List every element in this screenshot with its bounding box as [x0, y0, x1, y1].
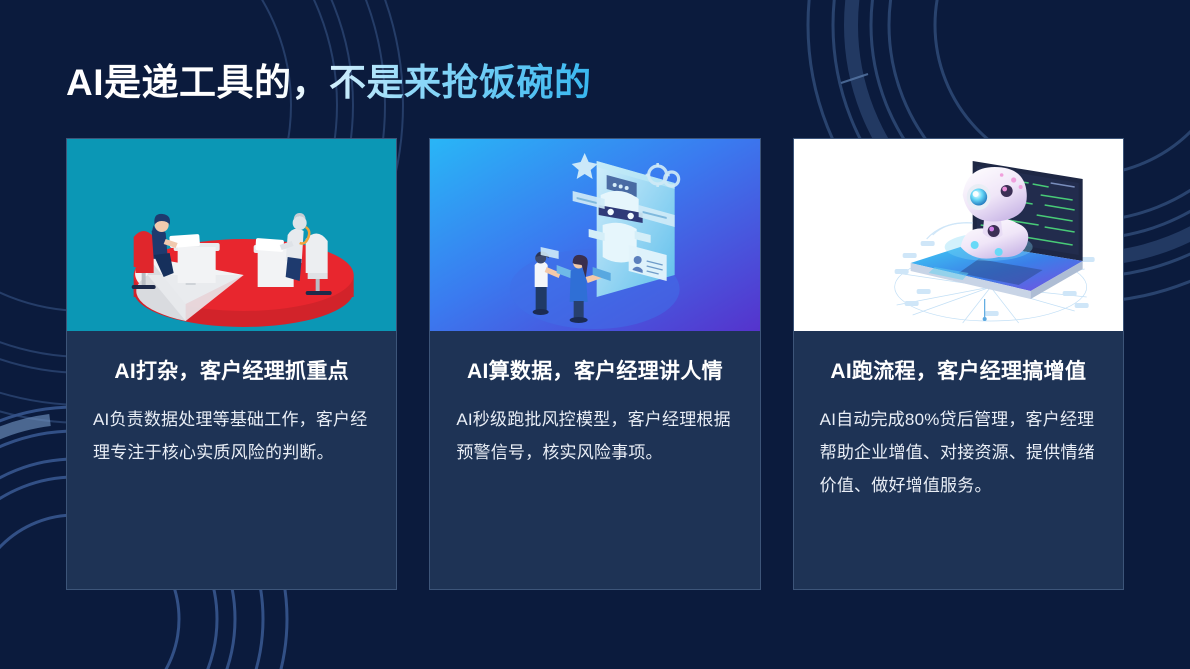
card-ai-data-crunching[interactable]: AI算数据，客户经理讲人情 AI秒级跑批风控模型，客户经理根据预警信号，核实风险…	[429, 138, 760, 590]
card-heading: AI算数据，客户经理讲人情	[456, 355, 733, 385]
card-list: AI打杂，客户经理抓重点 AI负责数据处理等基础工作，客户经理专注于核心实质风险…	[66, 138, 1124, 590]
card-description: AI负责数据处理等基础工作，客户经理专注于核心实质风险的判断。	[93, 403, 370, 469]
card-media-1	[67, 139, 396, 331]
card-heading: AI跑流程，客户经理搞增值	[820, 355, 1097, 385]
card-media-3	[794, 139, 1123, 331]
card-heading: AI打杂，客户经理抓重点	[93, 355, 370, 385]
illustration-3d-robot-emerging-from-laptop-with-code-icon	[794, 139, 1123, 331]
card-description: AI秒级跑批风控模型，客户经理根据预警信号，核实风险事项。	[456, 403, 733, 469]
card-ai-process-automation[interactable]: AI跑流程，客户经理搞增值 AI自动完成80%贷后管理，客户经理帮助企业增值、对…	[793, 138, 1124, 590]
card-body-1: AI打杂，客户经理抓重点 AI负责数据处理等基础工作，客户经理专注于核心实质风险…	[67, 331, 396, 469]
illustration-woman-and-robot-at-desks-on-pie-chart-icon	[67, 139, 396, 331]
card-body-3: AI跑流程，客户经理搞增值 AI自动完成80%贷后管理，客户经理帮助企业增值、对…	[794, 331, 1123, 502]
card-description: AI自动完成80%贷后管理，客户经理帮助企业增值、对接资源、提供情绪价值、做好增…	[820, 403, 1097, 502]
card-ai-grunt-work[interactable]: AI打杂，客户经理抓重点 AI负责数据处理等基础工作，客户经理专注于核心实质风险…	[66, 138, 397, 590]
card-body-2: AI算数据，客户经理讲人情 AI秒级跑批风控模型，客户经理根据预警信号，核实风险…	[430, 331, 759, 469]
page-title: AI是递工具的，不是来抢饭碗的	[66, 52, 592, 106]
illustration-isometric-chatbot-phone-with-two-people-icon	[430, 139, 759, 331]
card-media-2	[430, 139, 759, 331]
